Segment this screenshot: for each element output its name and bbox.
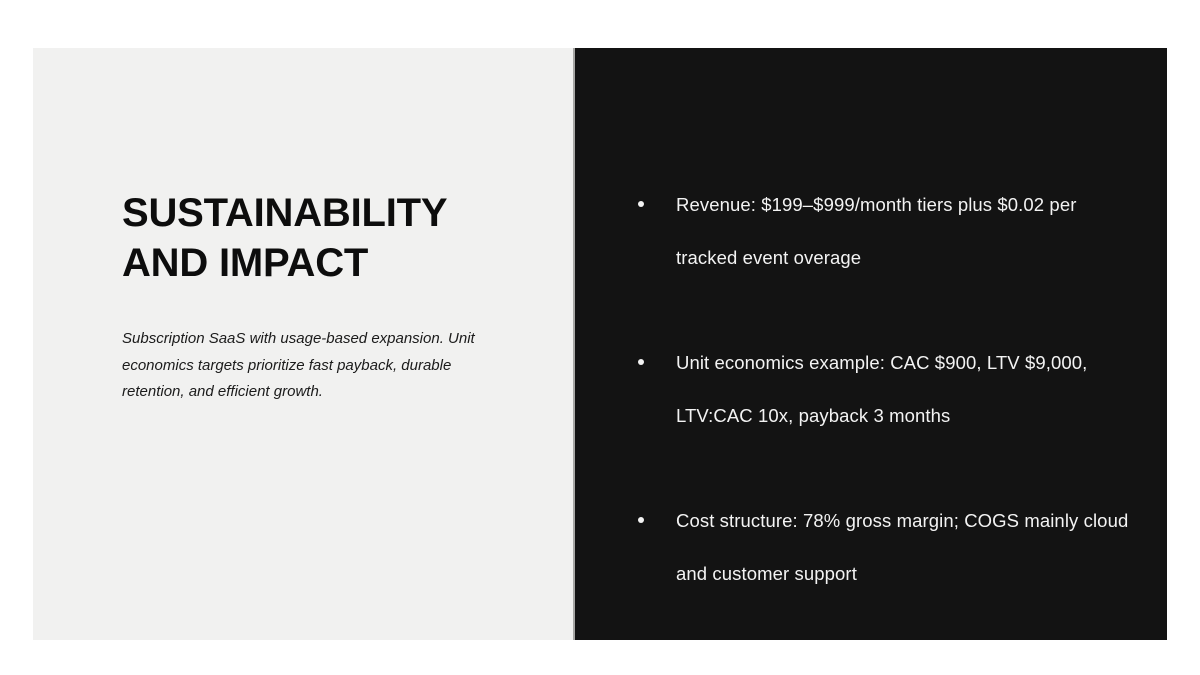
bullet-list: Revenue: $199–$999/month tiers plus $0.0… [632, 179, 1132, 600]
page-title: SUSTAINABILITY AND IMPACT [122, 188, 522, 288]
list-item-text: Cost structure: 78% gross margin; COGS m… [676, 495, 1132, 600]
bullet-dot-icon [638, 201, 644, 207]
page-subtitle: Subscription SaaS with usage-based expan… [122, 326, 484, 406]
right-content-panel: Revenue: $199–$999/month tiers plus $0.0… [575, 48, 1167, 640]
list-item: Revenue: $199–$999/month tiers plus $0.0… [632, 179, 1132, 284]
slide-canvas: SUSTAINABILITY AND IMPACT Subscription S… [0, 0, 1200, 675]
bullet-dot-icon [638, 359, 644, 365]
list-item-text: Unit economics example: CAC $900, LTV $9… [676, 337, 1132, 442]
bullet-dot-icon [638, 517, 644, 523]
list-item: Unit economics example: CAC $900, LTV $9… [632, 337, 1132, 442]
left-content-panel: SUSTAINABILITY AND IMPACT Subscription S… [33, 48, 575, 640]
list-item-text: Revenue: $199–$999/month tiers plus $0.0… [676, 179, 1132, 284]
left-panel-inner: SUSTAINABILITY AND IMPACT Subscription S… [122, 188, 522, 406]
list-item: Cost structure: 78% gross margin; COGS m… [632, 495, 1132, 600]
